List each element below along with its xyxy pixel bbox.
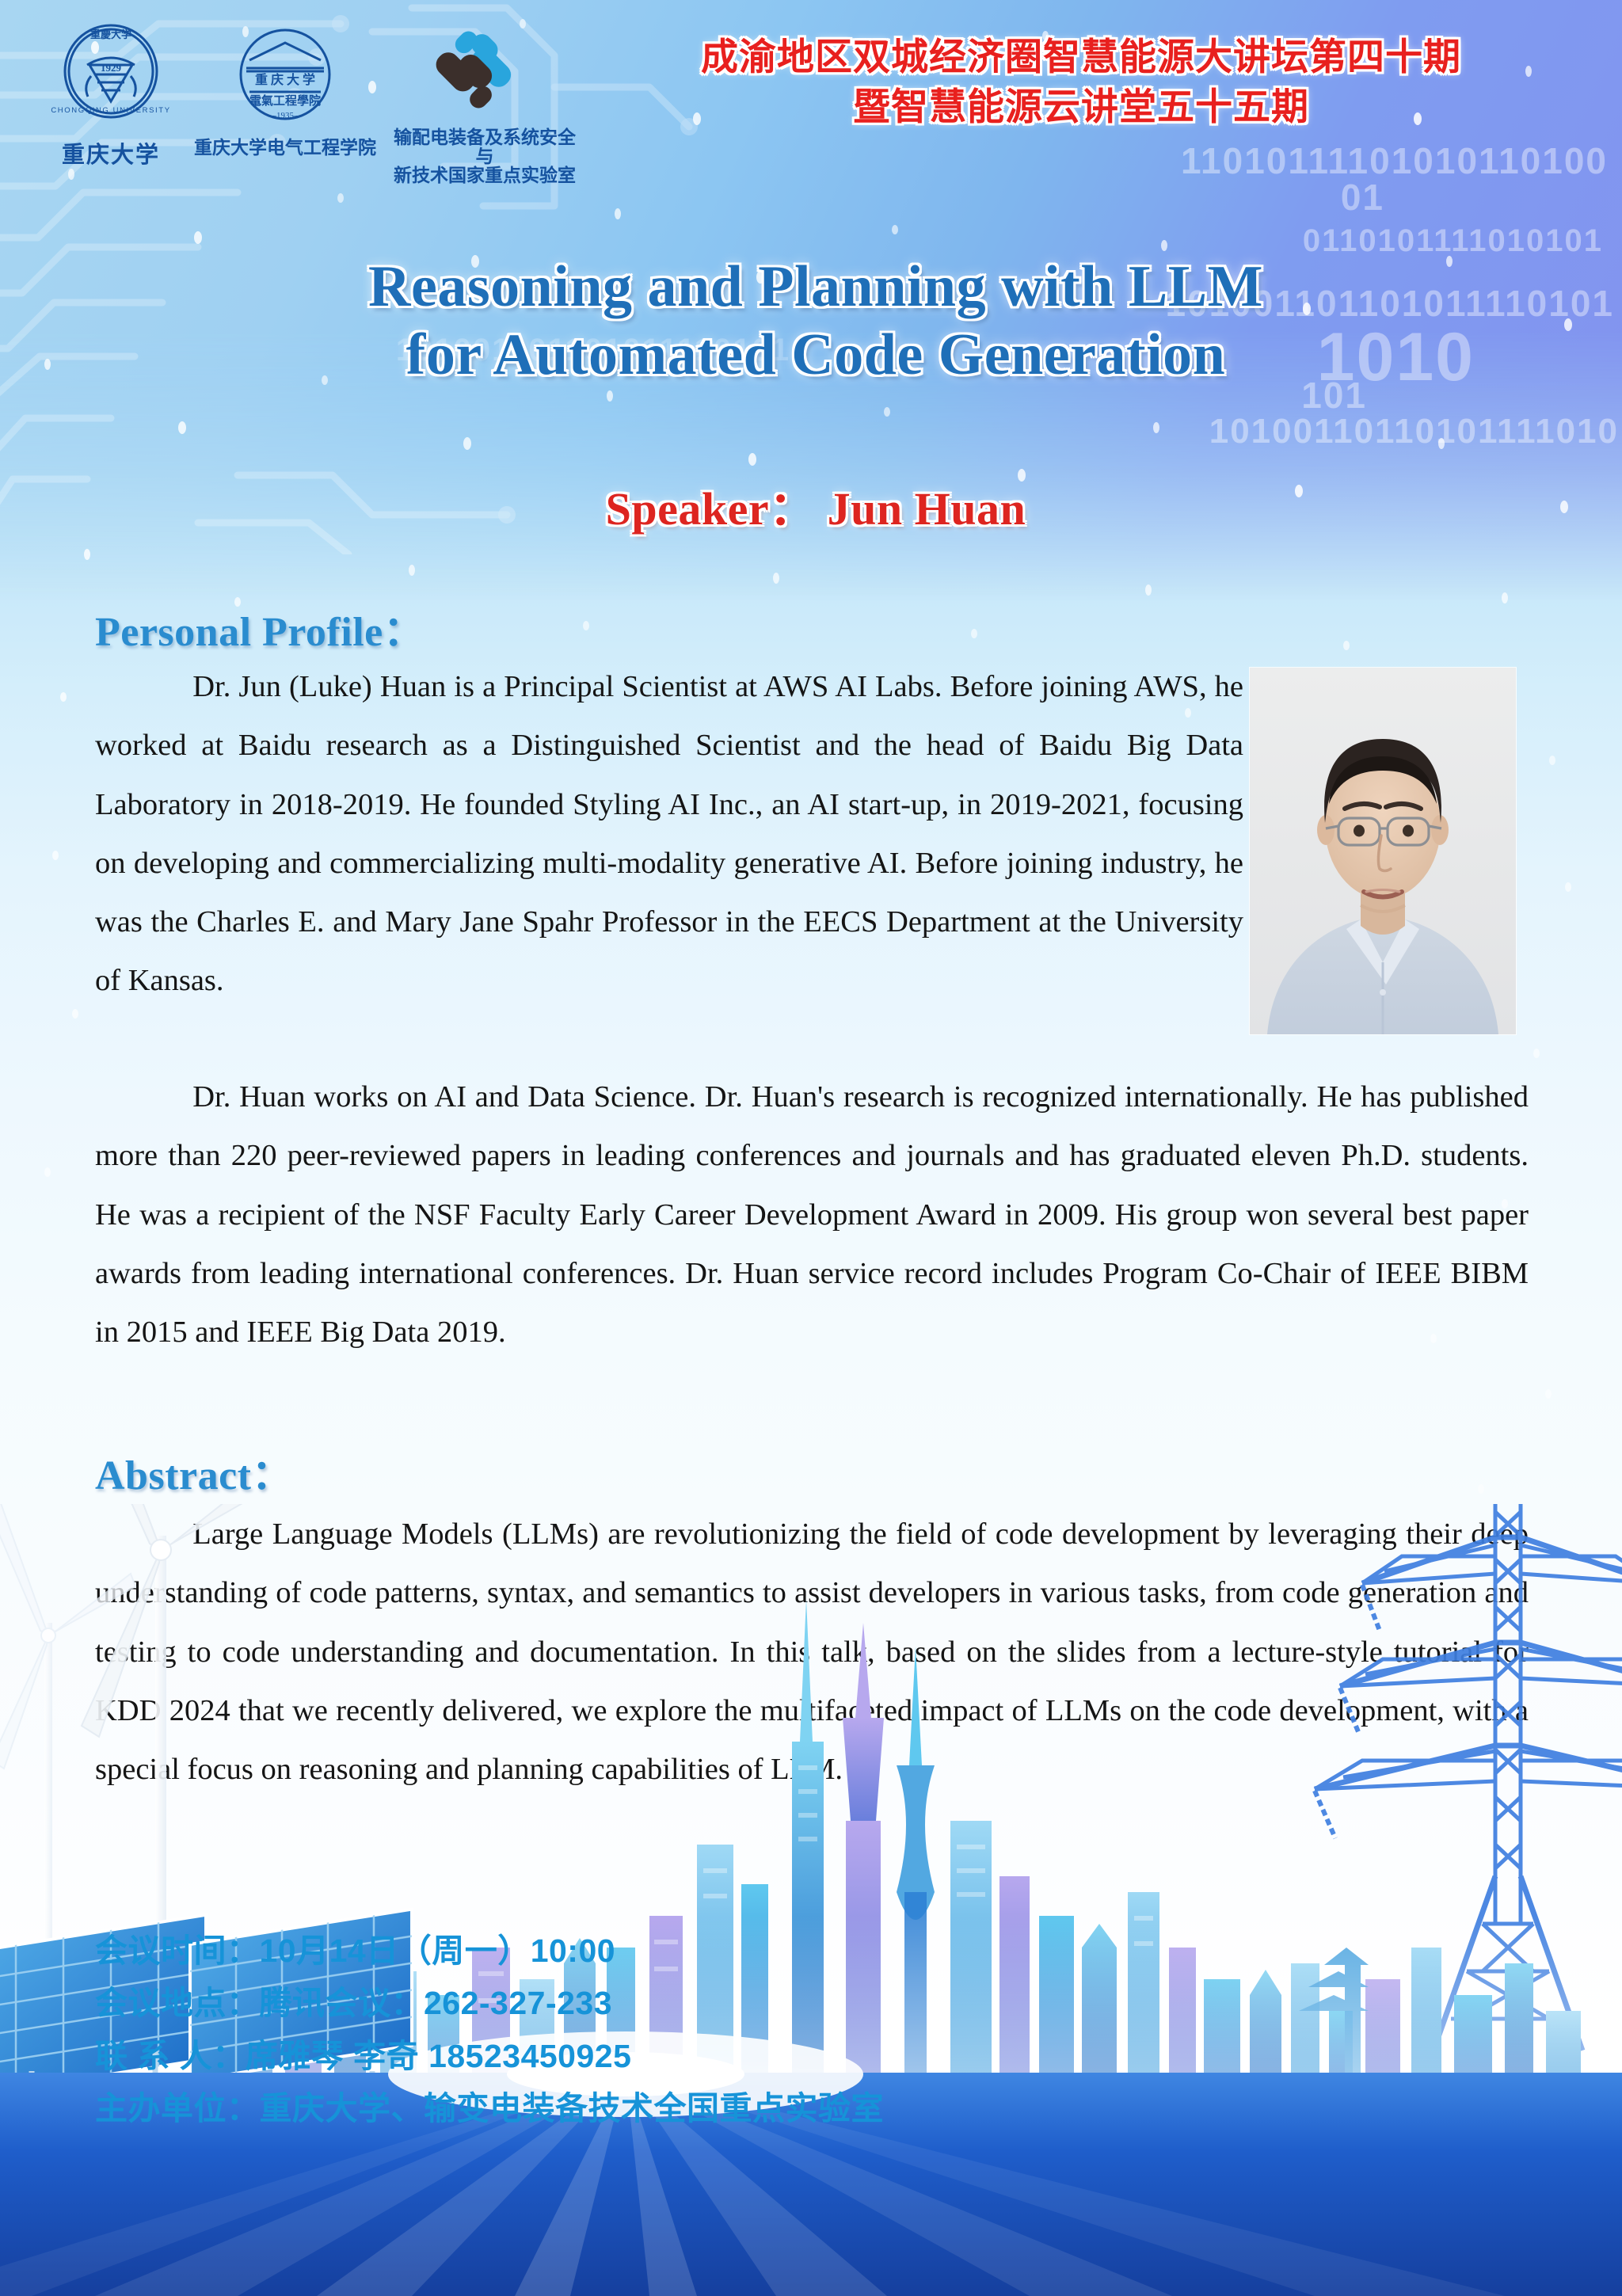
abstract-heading-text: Abstract <box>95 1453 252 1498</box>
logo-state-key-lab-caption-line2: 新技术国家重点实验室 <box>386 166 584 185</box>
logo-chongqing-university-caption: 重庆大学 <box>32 143 190 167</box>
svg-text:—1935—: —1935— <box>267 111 303 120</box>
svg-text:1929: 1929 <box>101 62 122 74</box>
binary-digits-2: 01 <box>1341 176 1384 219</box>
speaker-portrait-photo <box>1250 668 1516 1034</box>
logo-state-key-lab: 输配电装备及系统安全与 新技术国家重点实验室 <box>386 22 584 185</box>
binary-digits-6: 10100110110101111010 <box>1209 412 1619 451</box>
cqu-electrical-engineering-seal-icon: 重 庆 大 学 電氣工程學院 —1935— <box>226 25 345 132</box>
meeting-time: 会议时间：10月14日（周一）10:00 <box>95 1925 1045 1977</box>
profile-paragraph-1: Dr. Jun (Luke) Huan is a Principal Scien… <box>95 657 1243 1011</box>
headline-line-1: 成渝地区双城经济圈智慧能源大讲坛第四十期 <box>602 32 1560 82</box>
logo-cqu-ee-caption: 重庆大学电气工程学院 <box>194 138 376 157</box>
personal-profile-heading-colon: ： <box>383 610 425 655</box>
poster-root: 11010111101010110100 01 1010011011010111… <box>0 0 1622 2296</box>
svg-text:CHONGQING UNIVERSITY: CHONGQING UNIVERSITY <box>51 106 170 115</box>
abstract-heading-colon: ： <box>252 1453 294 1498</box>
headline-line-2: 暨智慧能源云讲堂五十五期 <box>602 82 1560 131</box>
abstract-heading: Abstract： <box>95 1441 293 1501</box>
meeting-place: 会议地点：腾讯会议：262-327-233 <box>95 1977 1045 2029</box>
title-line-1: Reasoning and Planning with LLM <box>103 253 1529 322</box>
abstract-paragraph-1: Large Language Models (LLMs) are revolut… <box>95 1505 1529 1799</box>
svg-text:重慶大学: 重慶大学 <box>89 29 131 40</box>
logo-chongqing-university: 1929 重慶大学 CHONGQING UNIVERSITY 重庆大学 <box>32 19 190 167</box>
speaker-portrait <box>1250 668 1516 1034</box>
contact-person: 联 系 人：席雅琴 李奇 18523450925 <box>95 2030 1045 2082</box>
speaker-line: Speaker： Jun Huan <box>103 471 1529 538</box>
event-details: 会议时间：10月14日（周一）10:00 会议地点：腾讯会议：262-327-2… <box>95 1925 1045 2135</box>
logo-state-key-lab-caption-line1: 输配电装备及系统安全与 <box>386 128 584 166</box>
page-title: Reasoning and Planning with LLM for Auto… <box>103 253 1529 390</box>
personal-profile-heading: Personal Profile： <box>95 598 425 657</box>
svg-text:電氣工程學院: 電氣工程學院 <box>249 93 321 108</box>
logo-cqu-electrical-engineering: 重 庆 大 学 電氣工程學院 —1935— 重庆大学电气工程学院 <box>194 25 376 157</box>
binary-digits-1: 11010111101010110100 <box>1181 139 1608 182</box>
event-series-headline: 成渝地区双城经济圈智慧能源大讲坛第四十期 暨智慧能源云讲堂五十五期 <box>602 32 1560 132</box>
logo-row: 1929 重慶大学 CHONGQING UNIVERSITY 重庆大学 重 庆 … <box>32 14 602 181</box>
organizers: 主办单位：重庆大学、输变电装备技术全国重点实验室 <box>95 2082 1045 2134</box>
title-line-2: for Automated Code Generation <box>103 322 1529 390</box>
state-key-lab-icon <box>433 22 536 124</box>
personal-profile-heading-text: Personal Profile <box>95 610 383 655</box>
profile-paragraph-2: Dr. Huan works on AI and Data Science. D… <box>95 1068 1529 1361</box>
chongqing-university-seal-icon: 1929 重慶大学 CHONGQING UNIVERSITY <box>42 19 181 138</box>
svg-text:重 庆 大 学: 重 庆 大 学 <box>255 72 315 87</box>
